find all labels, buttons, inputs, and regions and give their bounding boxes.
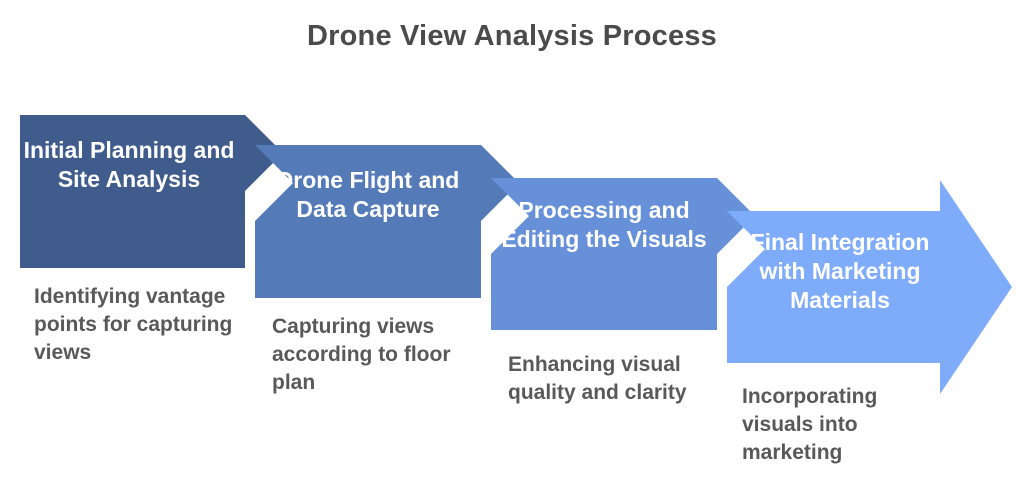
stage-1-label: Initial Planning and Site Analysis: [18, 136, 240, 194]
stage-2-caption: Capturing views according to floor plan: [272, 313, 452, 397]
stage-1-caption: Identifying vantage points for capturing…: [34, 283, 234, 367]
stage-3-label: Processing and Editing the Visuals: [492, 196, 716, 254]
page-title: Drone View Analysis Process: [0, 20, 1024, 53]
process-diagram: Drone View Analysis Process Initial Plan…: [0, 0, 1024, 503]
stage-4-caption: Incorporating visuals into marketing: [742, 383, 932, 467]
stage-3-caption: Enhancing visual quality and clarity: [508, 351, 688, 407]
stage-4-label: Final Integration with Marketing Materia…: [728, 228, 952, 316]
stage-2-label: Drone Flight and Data Capture: [256, 166, 480, 224]
